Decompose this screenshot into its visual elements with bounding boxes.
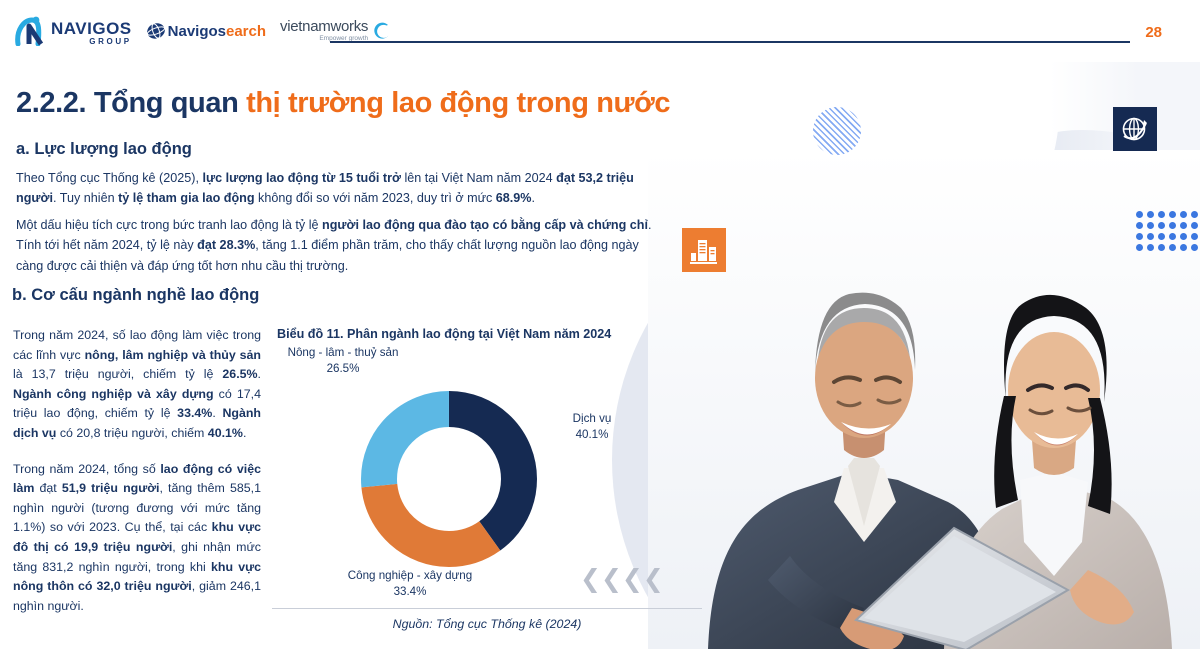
text-run: . xyxy=(243,426,246,440)
navigos-search-logo: Navigosearch xyxy=(146,21,266,41)
dot xyxy=(1169,222,1176,229)
dot xyxy=(1158,244,1165,251)
text-bold: nông, lâm nghiệp và thủy sản xyxy=(85,348,261,362)
text-run: Theo Tổng cục Thống kê (2025), xyxy=(16,171,202,185)
dot xyxy=(1158,211,1165,218)
chart-label-industry-name: Công nghiệp - xây dựng xyxy=(348,569,472,582)
page-title-orange: thị trường lao động trong nước xyxy=(246,87,670,119)
vietnamworks-swirl-icon xyxy=(372,21,392,41)
chart-label-industry-value: 33.4% xyxy=(394,585,427,598)
dot xyxy=(1158,233,1165,240)
header-divider xyxy=(330,41,1130,43)
text-run: là 13,7 triệu người, chiếm tỷ lệ xyxy=(13,367,222,381)
text-run: . xyxy=(532,191,536,205)
chart-label-agriculture-value: 26.5% xyxy=(327,362,360,375)
text-bold: Ngành công nghiệp và xây dựng xyxy=(13,387,214,401)
navigos-group-wordmark: NAVIGOS xyxy=(51,20,132,37)
dot xyxy=(1191,211,1198,218)
text-bold: lực lượng lao động từ 15 tuổi trở xyxy=(202,171,401,185)
section-a-heading: a. Lực lượng lao động xyxy=(16,140,192,159)
source-divider xyxy=(272,608,702,609)
chart-label-agriculture: Nông - lâm - thuỷ sản 26.5% xyxy=(278,345,408,376)
chevron-left-decor-icon: ❮❮❮❮ xyxy=(580,566,664,591)
text-run: có 20,8 triệu người, chiếm xyxy=(56,426,207,440)
globe-icon xyxy=(1113,107,1157,151)
buildings-icon xyxy=(682,228,726,272)
vietnamworks-wordmark: vietnamworks xyxy=(280,19,368,34)
vietnamworks-logo: vietnamworks Empower growth xyxy=(280,19,392,43)
dot xyxy=(1136,233,1143,240)
text-bold: đạt 28.3% xyxy=(197,238,255,252)
section-a-paragraph-1: Theo Tổng cục Thống kê (2025), lực lượng… xyxy=(16,168,664,209)
chart-label-services-value: 40.1% xyxy=(576,428,609,441)
chart-label-services: Dịch vụ 40.1% xyxy=(552,411,632,442)
dot xyxy=(1191,222,1198,229)
dot xyxy=(1136,244,1143,251)
text-run: . xyxy=(212,406,222,420)
text-run: Trong năm 2024, tổng số xyxy=(13,462,160,476)
slide-root: NAVIGOS GROUP Navigosearch vietnamworks … xyxy=(0,0,1200,649)
page-title: 2.2.2. Tổng quan thị trường lao động tro… xyxy=(16,88,670,120)
text-bold: 33.4% xyxy=(177,406,212,420)
page-header: NAVIGOS GROUP Navigosearch vietnamworks … xyxy=(0,0,1200,62)
navigos-group-logo: NAVIGOS GROUP xyxy=(14,16,132,46)
dot xyxy=(1136,211,1143,218)
text-run: . xyxy=(258,367,261,381)
section-b-paragraph-1: Trong năm 2024, số lao động làm việc tro… xyxy=(13,326,261,444)
section-a-paragraph-2: Một dấu hiệu tích cực trong bức tranh la… xyxy=(16,215,664,276)
navigos-n-icon xyxy=(14,16,48,46)
text-bold: 68.9% xyxy=(496,191,532,205)
section-b-heading: b. Cơ cấu ngành nghề lao động xyxy=(12,286,259,305)
dot xyxy=(1180,244,1187,251)
dot xyxy=(1136,222,1143,229)
text-run: lên tại Việt Nam năm 2024 xyxy=(401,171,556,185)
text-bold: tỷ lệ tham gia lao động xyxy=(118,191,254,205)
text-run: không đổi so với năm 2023, duy trì ở mức xyxy=(255,191,496,205)
dot xyxy=(1180,222,1187,229)
text-bold: 51,9 triệu người xyxy=(62,481,160,495)
text-bold: người lao động qua đào tạo có bằng cấp v… xyxy=(322,218,648,232)
dot xyxy=(1169,211,1176,218)
chart-source-note: Nguồn: Tổng cục Thống kê (2024) xyxy=(272,617,702,631)
dot xyxy=(1191,244,1198,251)
hatched-circle-decor xyxy=(813,107,861,155)
dot xyxy=(1147,244,1154,251)
dot xyxy=(1147,233,1154,240)
dot xyxy=(1191,233,1198,240)
donut-chart xyxy=(336,366,562,592)
dot xyxy=(1147,222,1154,229)
dot xyxy=(1169,233,1176,240)
dot xyxy=(1158,222,1165,229)
chart-label-services-name: Dịch vụ xyxy=(573,412,612,425)
dot xyxy=(1169,244,1176,251)
text-run: . xyxy=(53,191,57,205)
text-run: Một dấu hiệu tích cực trong bức tranh la… xyxy=(16,218,322,232)
chart-title: Biểu đồ 11. Phân ngành lao động tại Việt… xyxy=(277,327,611,341)
navigos-group-subword: GROUP xyxy=(51,38,132,46)
chart-label-agriculture-name: Nông - lâm - thuỷ sản xyxy=(288,346,399,359)
chart-label-industry: Công nghiệp - xây dựng 33.4% xyxy=(320,568,500,599)
dot xyxy=(1180,211,1187,218)
dot xyxy=(1147,211,1154,218)
dot-grid-decor xyxy=(1136,211,1200,255)
navigos-search-word-a: Navigos xyxy=(168,23,226,40)
page-number: 28 xyxy=(1145,24,1162,41)
navigos-search-word-b: earch xyxy=(226,23,266,40)
text-run: đạt xyxy=(34,481,62,495)
hero-photo xyxy=(648,150,1200,649)
section-b-text-column: Trong năm 2024, số lao động làm việc tro… xyxy=(13,326,261,616)
text-run: Tuy nhiên xyxy=(60,191,118,205)
text-bold: 26.5% xyxy=(222,367,257,381)
section-b-paragraph-2: Trong năm 2024, tổng số lao động có việc… xyxy=(13,460,261,617)
navigos-search-globe-icon xyxy=(146,21,166,41)
dot xyxy=(1180,233,1187,240)
page-title-navy: 2.2.2. Tổng quan xyxy=(16,87,246,119)
text-bold: 40.1% xyxy=(208,426,243,440)
